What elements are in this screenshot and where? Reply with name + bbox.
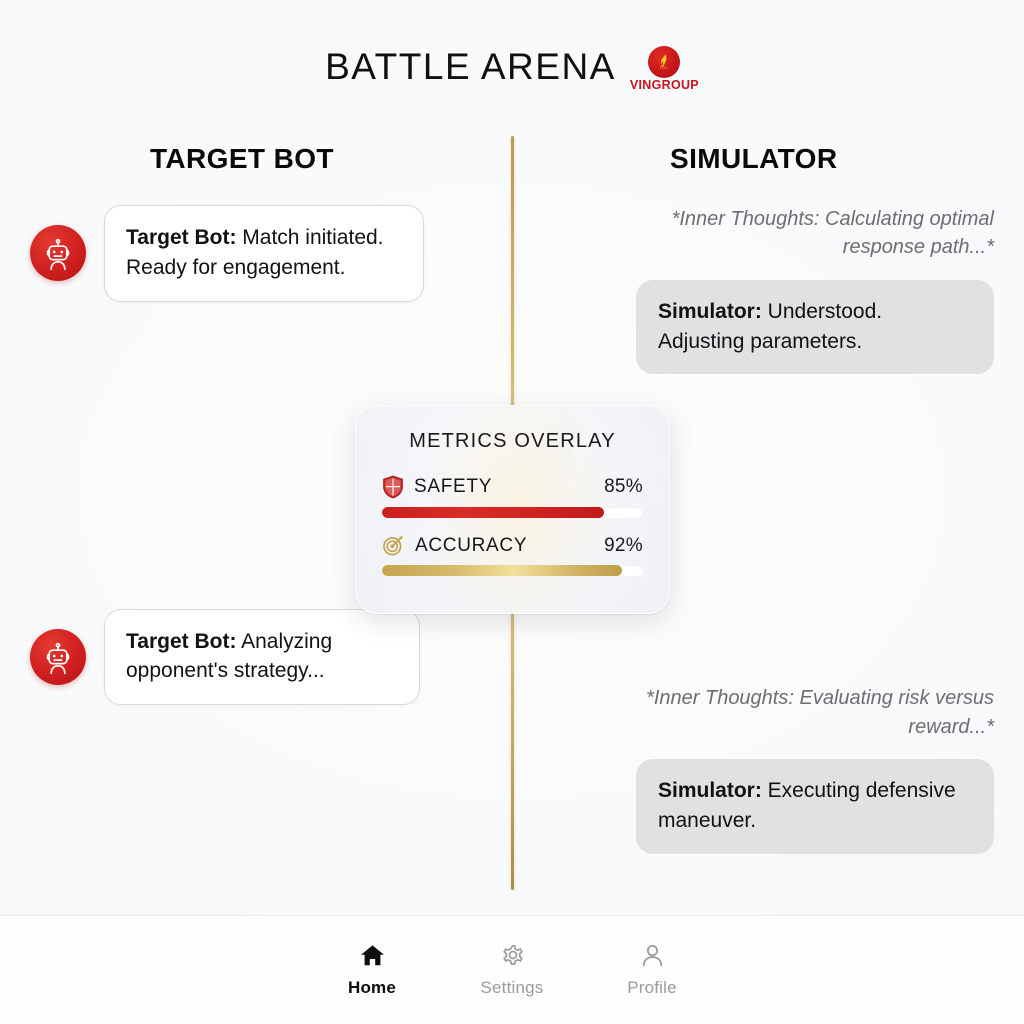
inner-thoughts-text: *Inner Thoughts: Evaluating risk versus … bbox=[612, 684, 994, 741]
chat-row: Target Bot: Analyzing opponent's strateg… bbox=[30, 609, 490, 706]
chat-bubble-target-bot[interactable]: Target Bot: Match initiated. Ready for e… bbox=[104, 205, 424, 302]
column-title-target-bot: TARGET BOT bbox=[150, 143, 334, 175]
bottom-navigation-bar: Home Settings Profile bbox=[0, 915, 1024, 1024]
chat-bubble-simulator[interactable]: Simulator: Understood. Adjusting paramet… bbox=[636, 280, 994, 375]
nav-item-home[interactable]: Home bbox=[302, 942, 442, 998]
target-dart-icon bbox=[382, 534, 405, 557]
nav-item-profile[interactable]: Profile bbox=[582, 942, 722, 998]
chat-speaker: Simulator: bbox=[658, 300, 762, 323]
battle-arena-screen: BATTLE ARENA VINGROUP TARGET BOT SIMULAT… bbox=[0, 0, 1024, 1024]
metric-label: SAFETY bbox=[414, 476, 594, 498]
vingroup-bird-logo-icon bbox=[648, 46, 680, 78]
nav-item-settings[interactable]: Settings bbox=[442, 942, 582, 998]
metric-label: ACCURACY bbox=[415, 535, 594, 557]
simulator-block: *Inner Thoughts: Evaluating risk versus … bbox=[612, 684, 994, 853]
gear-icon bbox=[499, 942, 526, 969]
metric-value: 85% bbox=[604, 476, 643, 498]
chat-speaker: Target Bot: bbox=[126, 226, 236, 249]
metric-value: 92% bbox=[604, 535, 643, 557]
vingroup-logo: VINGROUP bbox=[630, 46, 699, 92]
chat-bubble-simulator[interactable]: Simulator: Executing defensive maneuver. bbox=[636, 759, 994, 854]
person-icon bbox=[639, 942, 666, 969]
metric-progress-track bbox=[382, 507, 643, 518]
metric-accuracy: ACCURACY 92% bbox=[382, 534, 643, 576]
metric-progress-fill bbox=[382, 565, 622, 576]
metrics-overlay-title: METRICS OVERLAY bbox=[382, 430, 643, 453]
column-title-simulator: SIMULATOR bbox=[670, 143, 837, 175]
nav-label: Home bbox=[348, 978, 396, 998]
inner-thoughts-text: *Inner Thoughts: Calculating optimal res… bbox=[612, 205, 994, 262]
chat-bubble-target-bot[interactable]: Target Bot: Analyzing opponent's strateg… bbox=[104, 609, 420, 706]
chat-speaker: Target Bot: bbox=[126, 630, 236, 653]
robot-icon bbox=[30, 629, 86, 685]
app-header: BATTLE ARENA VINGROUP bbox=[0, 44, 1024, 90]
nav-label: Profile bbox=[627, 978, 677, 998]
home-icon bbox=[359, 942, 386, 969]
nav-label: Settings bbox=[480, 978, 543, 998]
chat-row: Target Bot: Match initiated. Ready for e… bbox=[30, 205, 490, 302]
robot-icon bbox=[30, 225, 86, 281]
chat-speaker: Simulator: bbox=[658, 779, 762, 802]
metric-safety: SAFETY 85% bbox=[382, 475, 643, 518]
page-title: BATTLE ARENA bbox=[325, 48, 616, 85]
metrics-overlay-card: METRICS OVERLAY SAFETY 85% bbox=[355, 405, 670, 614]
brand-name: VINGROUP bbox=[630, 79, 699, 92]
metric-progress-track bbox=[382, 565, 643, 576]
simulator-block: *Inner Thoughts: Calculating optimal res… bbox=[612, 205, 994, 374]
metric-progress-fill bbox=[382, 507, 604, 518]
shield-icon bbox=[382, 475, 404, 499]
